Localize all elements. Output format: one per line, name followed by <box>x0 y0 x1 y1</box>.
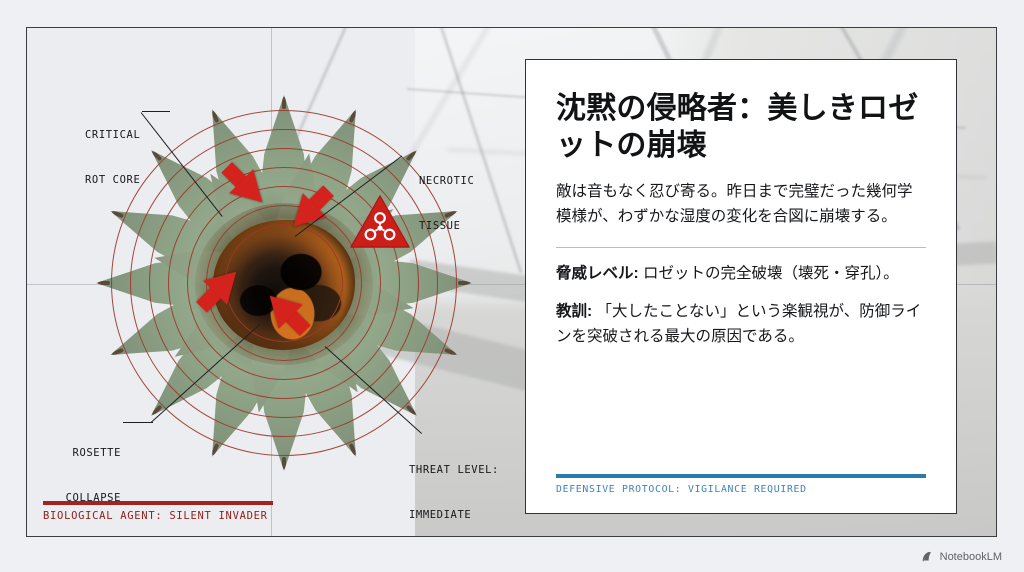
footer-label: DEFENSIVE PROTOCOL: VIGILANCE REQUIRED <box>556 484 926 495</box>
card-lede: 敵は音もなく忍び寄る。昨日まで完璧だった幾何学模様が、わずかな湿度の変化を合図に… <box>556 179 926 229</box>
annotation-line-1: THREAT LEVEL: <box>409 463 499 478</box>
annotation-necrotic-tissue: NECROTIC TISSUE <box>419 144 474 264</box>
fact-lesson: 教訓: 「大したことない」という楽観視が、防御ラインを突破される最大の原因である… <box>556 299 926 349</box>
annotation-line-2: ROT CORE <box>85 173 140 188</box>
fact-value: ロゼットの完全破壊（壊死・穿孔）。 <box>643 265 899 282</box>
card-title: 沈黙の侵略者：美しきロゼットの崩壊 <box>556 90 926 164</box>
annotation-line-1: NECROTIC <box>419 174 474 189</box>
slide-frame: CRITICAL ROT CORE NECROTIC TISSUE ROSETT… <box>26 27 997 537</box>
info-card: 沈黙の侵略者：美しきロゼットの崩壊 敵は音もなく忍び寄る。昨日まで完璧だった幾何… <box>525 59 957 514</box>
notebooklm-watermark: NotebookLM <box>922 550 1002 563</box>
fact-value: 「大したことない」という楽観視が、防御ラインを突破される最大の原因である。 <box>556 303 921 345</box>
annotation-critical-rot-core: CRITICAL ROT CORE <box>85 98 140 218</box>
fact-label: 脅威レベル: <box>556 265 639 282</box>
watermark-label: NotebookLM <box>940 551 1002 563</box>
target-ring <box>111 110 457 456</box>
annotation-threat-level: THREAT LEVEL: IMMEDIATE <box>409 433 499 537</box>
notebooklm-logo-icon <box>922 550 935 563</box>
biohazard-icon <box>349 194 411 250</box>
annotation-line-1: CRITICAL <box>85 128 140 143</box>
footer-accent-bar <box>556 474 926 478</box>
banner-label: BIOLOGICAL AGENT: SILENT INVADER <box>43 510 273 522</box>
fact-threat-level: 脅威レベル: ロゼットの完全破壊（壊死・穿孔）。 <box>556 261 926 286</box>
banner-accent-bar <box>43 501 273 505</box>
card-footer: DEFENSIVE PROTOCOL: VIGILANCE REQUIRED <box>556 474 926 495</box>
annotation-line-2: IMMEDIATE <box>409 508 499 523</box>
fact-label: 教訓: <box>556 303 592 320</box>
plant-diagram <box>79 83 489 483</box>
card-divider <box>556 247 926 248</box>
annotation-line-1: ROSETTE <box>41 446 121 461</box>
annotation-leader-line <box>142 111 170 112</box>
annotation-leader-line <box>123 422 153 423</box>
annotation-line-2: TISSUE <box>419 219 474 234</box>
biological-agent-banner: BIOLOGICAL AGENT: SILENT INVADER <box>43 501 273 522</box>
